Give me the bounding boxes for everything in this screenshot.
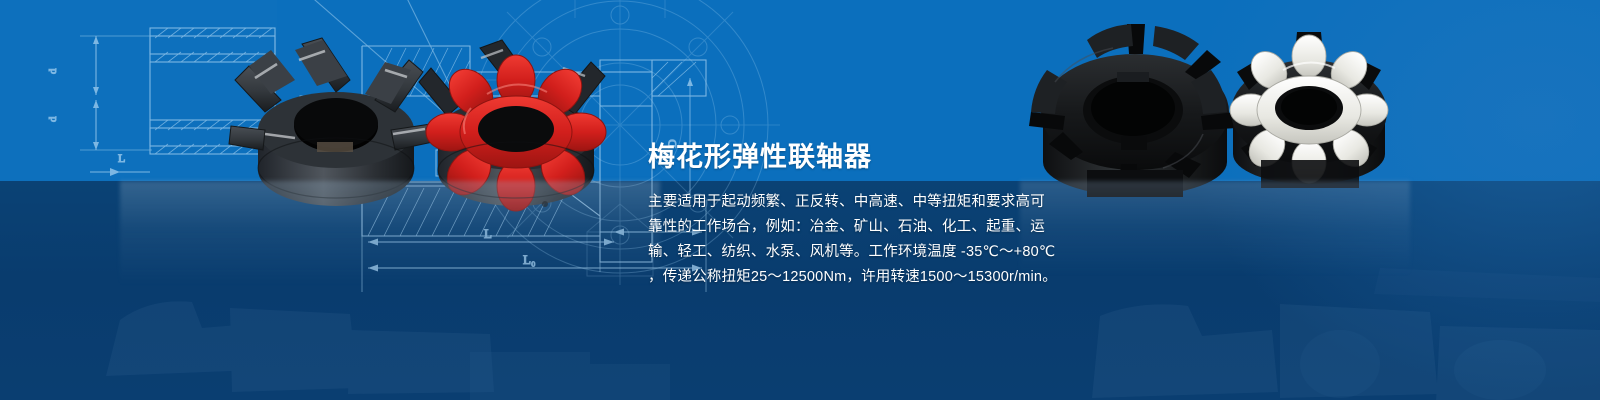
svg-text:d: d [47, 68, 59, 74]
description-line-2: 靠性的工作场合，例如：冶金、矿山、石油、化工、起重、运 [648, 215, 1068, 240]
coupling-hub-white-spider [1230, 32, 1388, 188]
page-title: 梅花形弹性联轴器 [648, 140, 872, 174]
description-line-3: 输、轻工、纺织、水泵、风机等。工作环境温度 -35℃～+80℃ [648, 240, 1068, 265]
description-line-4: ，传递公称扭矩25～12500Nm，许用转速1500～15300r/min。 [648, 265, 1068, 290]
product-photo-left-pair [225, 22, 625, 217]
description-line-1: 主要适用于起动频繁、正反转、中高速、中等扭矩和要求高可 [648, 190, 1068, 215]
svg-text:d: d [47, 116, 59, 122]
coupling-hub-black [229, 38, 433, 206]
coupling-hub-black-front [1029, 24, 1237, 197]
svg-text:L: L [118, 151, 125, 165]
product-description: 主要适用于起动频繁、正反转、中高速、中等扭矩和要求高可 靠性的工作场合，例如：冶… [648, 190, 1068, 290]
coupling-hub-red-spider [419, 40, 606, 211]
product-photo-right-pair [1025, 12, 1390, 197]
product-banner: d d [0, 0, 1600, 400]
